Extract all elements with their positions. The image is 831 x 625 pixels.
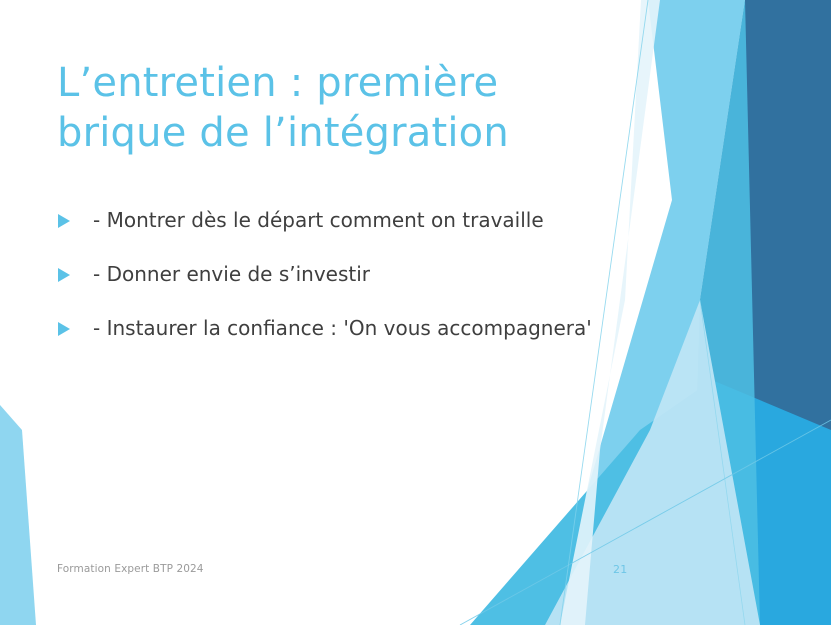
- triangle-right-icon: [57, 321, 71, 337]
- presentation-slide: L’entretien : première brique de l’intég…: [0, 0, 831, 625]
- slide-footer: Formation Expert BTP 2024: [57, 563, 204, 575]
- slide-content: L’entretien : première brique de l’intég…: [0, 0, 831, 625]
- bullet-text: - Donner envie de s’investir: [93, 262, 370, 288]
- bullet-text: - Montrer dès le départ comment on trava…: [93, 208, 544, 234]
- slide-page-number: 21: [613, 563, 628, 576]
- list-item: - Montrer dès le départ comment on trava…: [57, 208, 627, 234]
- triangle-right-icon: [57, 213, 71, 229]
- list-item: - Instaurer la confiance : 'On vous acco…: [57, 316, 627, 342]
- bullet-text: - Instaurer la confiance : 'On vous acco…: [93, 316, 592, 342]
- slide-title: L’entretien : première brique de l’intég…: [57, 58, 637, 159]
- list-item: - Donner envie de s’investir: [57, 262, 627, 288]
- triangle-right-icon: [57, 267, 71, 283]
- bullet-list: - Montrer dès le départ comment on trava…: [57, 208, 627, 370]
